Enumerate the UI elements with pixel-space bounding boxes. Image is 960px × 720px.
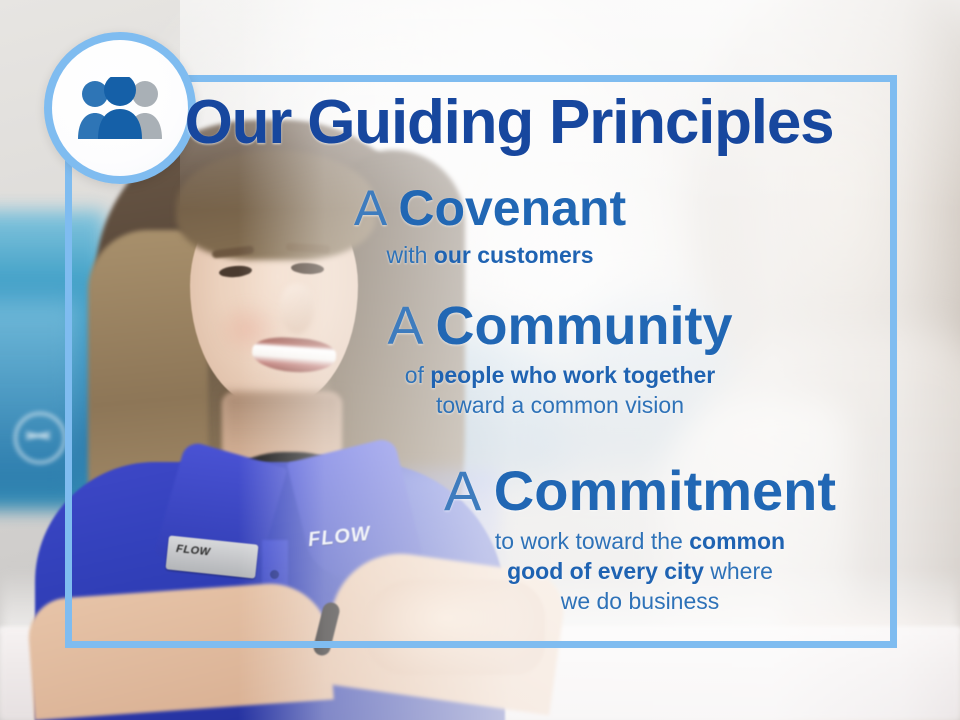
principle-heading: A Commitment bbox=[370, 462, 910, 520]
principle-article: A bbox=[387, 296, 420, 356]
principle-article: A bbox=[354, 180, 385, 236]
principle-subtext-line: good of every city where bbox=[370, 557, 910, 587]
principle-commitment: A Commitment to work toward the common g… bbox=[370, 462, 910, 617]
principle-covenant: A Covenant with our customers bbox=[250, 182, 730, 271]
principle-heading: A Covenant bbox=[250, 182, 730, 234]
poster-canvas: FLOW FLOW Our Guiding Principles A Coven… bbox=[0, 0, 960, 720]
employee-arm-left bbox=[26, 580, 334, 720]
page-title: Our Guiding Principles bbox=[0, 92, 960, 154]
principle-subtext: of people who work together toward a com… bbox=[300, 361, 820, 421]
principle-subtext: to work toward the common good of every … bbox=[370, 527, 910, 617]
principle-subtext-line: we do business bbox=[370, 587, 910, 617]
principle-noun: Community bbox=[436, 296, 733, 356]
principle-heading: A Community bbox=[300, 298, 820, 354]
principle-noun: Commitment bbox=[494, 459, 836, 522]
principle-subtext-line: to work toward the common bbox=[370, 527, 910, 557]
principle-noun: Covenant bbox=[398, 180, 626, 236]
principle-article: A bbox=[444, 459, 478, 522]
principle-subtext-line: of people who work together bbox=[300, 361, 820, 391]
principle-community: A Community of people who work together … bbox=[300, 298, 820, 421]
principle-subtext-line: with our customers bbox=[250, 241, 730, 271]
employee-shirt-button-top bbox=[270, 570, 279, 579]
principle-subtext-line: toward a common vision bbox=[300, 391, 820, 421]
principle-subtext: with our customers bbox=[250, 241, 730, 271]
